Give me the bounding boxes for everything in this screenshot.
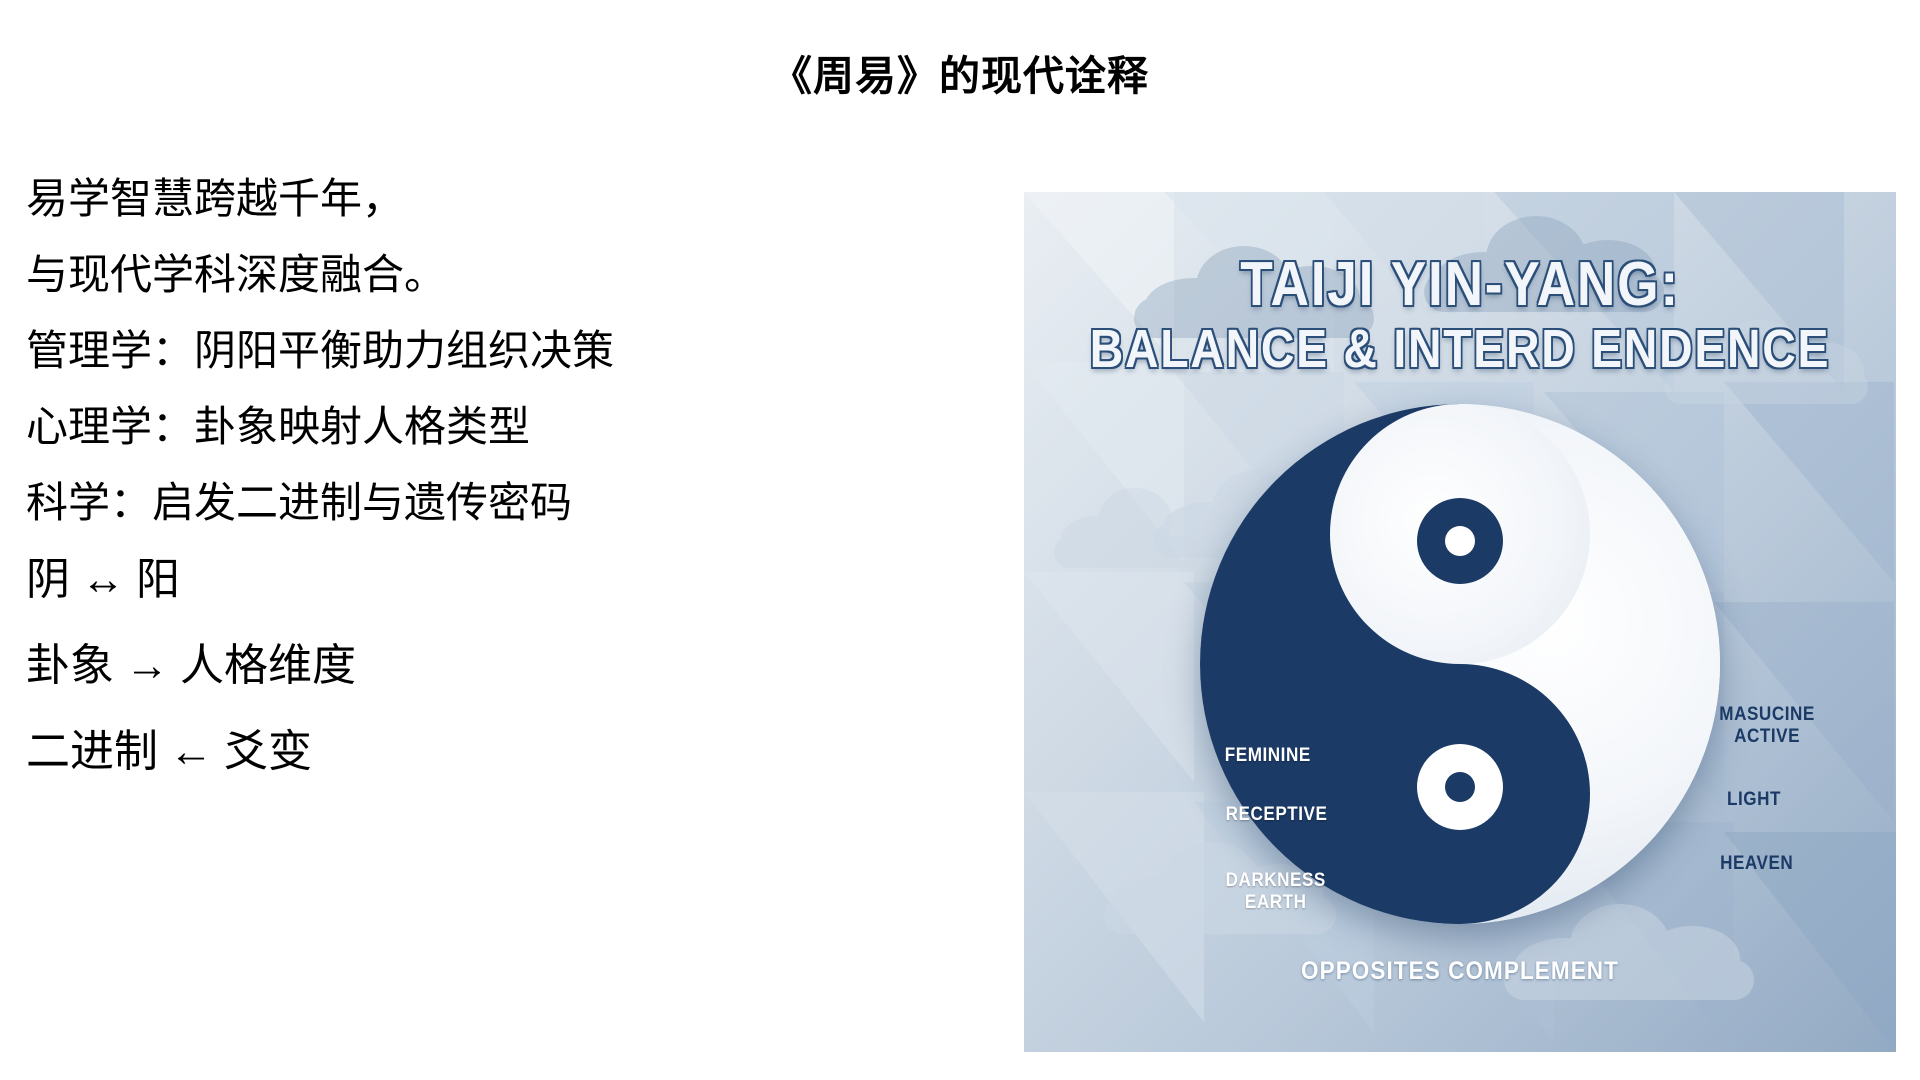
label-darkness-earth: DARKNESS EARTH bbox=[1226, 870, 1326, 915]
body-line-6: 阴 ↔ 阳 bbox=[26, 558, 786, 602]
illustration-title-line2: BALANCE & INTERD ENDENCE bbox=[1085, 322, 1835, 376]
yin-dot-icon bbox=[1417, 498, 1503, 584]
label-heaven: HEAVEN bbox=[1720, 853, 1793, 875]
body-line-4: 心理学：卦象映射人格类型 bbox=[26, 406, 786, 448]
body-line-7: 卦象 → 人格维度 bbox=[26, 644, 786, 688]
label-receptive: RECEPTIVE bbox=[1226, 804, 1328, 826]
illustration-title: TAIJI YIN-YANG: BALANCE & INTERD ENDENCE bbox=[1024, 254, 1896, 376]
label-masucine: MASUCINE bbox=[1719, 704, 1815, 725]
illustration-title-line1: TAIJI YIN-YANG: bbox=[1085, 254, 1835, 316]
label-light: LIGHT bbox=[1727, 789, 1781, 811]
label-active: ACTIVE bbox=[1734, 726, 1800, 747]
label-masucine-active: MASUCINE ACTIVE bbox=[1719, 704, 1815, 749]
body-line-3: 管理学：阴阳平衡助力组织决策 bbox=[26, 330, 786, 372]
body-line-8: 二进制 ← 爻变 bbox=[26, 730, 786, 774]
taiji-illustration: TAIJI YIN-YANG: BALANCE & INTERD ENDENCE… bbox=[1024, 192, 1896, 1052]
body-text-block: 易学智慧跨越千年， 与现代学科深度融合。 管理学：阴阳平衡助力组织决策 心理学：… bbox=[26, 178, 786, 816]
body-line-1: 易学智慧跨越千年， bbox=[26, 178, 786, 220]
illustration-footer: OPPOSITES COMPLEMENT bbox=[1068, 957, 1853, 986]
page-title: 《周易》的现代诠释 bbox=[0, 42, 1920, 102]
body-line-5: 科学：启发二进制与遗传密码 bbox=[26, 482, 786, 524]
label-darkness: DARKNESS bbox=[1226, 870, 1326, 891]
cloud-icon bbox=[1054, 482, 1204, 572]
label-feminine: FEMININE bbox=[1225, 745, 1311, 767]
body-line-2: 与现代学科深度融合。 bbox=[26, 254, 786, 296]
yang-dot-icon bbox=[1417, 744, 1503, 830]
label-earth: EARTH bbox=[1245, 892, 1307, 913]
yin-yang-symbol bbox=[1200, 404, 1720, 924]
